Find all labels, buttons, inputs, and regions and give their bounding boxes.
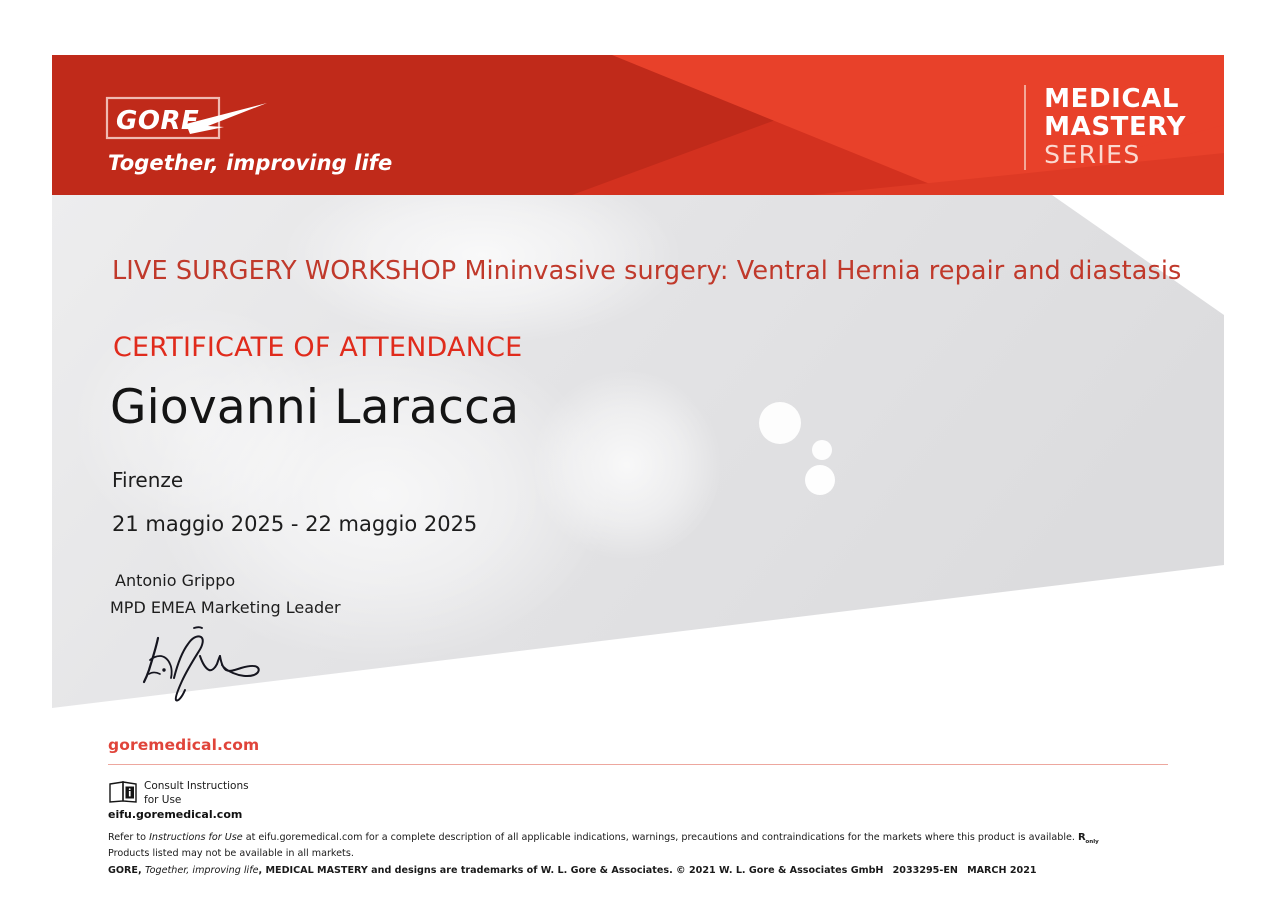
fineprint-l3-italic: Together, improving life	[145, 865, 259, 876]
fineprint-line-2: Products listed may not be available in …	[108, 847, 1188, 861]
gore-tagline: Together, improving life	[108, 151, 392, 175]
footer-divider	[108, 764, 1168, 765]
medical-mastery-series-block: MEDICAL MASTERY SERIES	[1024, 85, 1186, 170]
rx-only-symbol: Ronly	[1078, 831, 1099, 847]
signatory-role: MPD EMEA Marketing Leader	[110, 598, 341, 617]
fineprint: Refer to Instructions for Use at eifu.go…	[108, 831, 1188, 877]
fineprint-l1-a: Refer to	[108, 832, 149, 843]
series-line-mastery: MASTERY	[1044, 113, 1186, 141]
signature-image	[102, 618, 292, 703]
fineprint-l1-italic: Instructions for Use	[149, 832, 243, 843]
certificate-heading: CERTIFICATE OF ATTENDANCE	[113, 332, 522, 363]
footer: goremedical.com Consult Instructions for…	[52, 718, 1224, 891]
fineprint-doc-date: MARCH 2021	[967, 865, 1036, 876]
ifu-label-line1: Consult Instructions	[144, 780, 249, 792]
fineprint-line-1: Refer to Instructions for Use at eifu.go…	[108, 831, 1188, 847]
fineprint-line-3: GORE, Together, improving life, MEDICAL …	[108, 864, 1188, 878]
course-title: LIVE SURGERY WORKSHOP Mininvasive surger…	[112, 256, 1202, 286]
series-line-series: SERIES	[1044, 141, 1186, 170]
signatory-name: Antonio Grippo	[115, 571, 235, 590]
series-line-medical: MEDICAL	[1044, 85, 1186, 113]
rx-only-subscript: only	[1085, 839, 1098, 845]
header-band: GORE Together, improving life MEDICAL MA…	[52, 55, 1224, 195]
goremedical-url[interactable]: goremedical.com	[108, 736, 259, 754]
fineprint-l3-a: GORE,	[108, 865, 145, 876]
gore-logo-icon: GORE	[104, 94, 272, 142]
fineprint-doc-code: 2033295-EN	[893, 865, 958, 876]
consult-instructions-for-use-icon	[108, 780, 142, 804]
fineprint-l1-b: at eifu.goremedical.com for a complete d…	[243, 832, 1078, 843]
ifu-url[interactable]: eifu.goremedical.com	[108, 808, 242, 821]
event-city: Firenze	[112, 468, 183, 492]
certificate-page: GORE Together, improving life MEDICAL MA…	[0, 0, 1280, 909]
certificate-sheet: GORE Together, improving life MEDICAL MA…	[52, 18, 1224, 891]
ifu-label-line2: for Use	[144, 794, 181, 806]
attendee-name: Giovanni Laracca	[110, 380, 519, 435]
event-dates: 21 maggio 2025 - 22 maggio 2025	[112, 512, 477, 536]
fineprint-l3-b: , MEDICAL MASTERY and designs are tradem…	[259, 865, 884, 876]
svg-text:GORE: GORE	[116, 106, 199, 136]
